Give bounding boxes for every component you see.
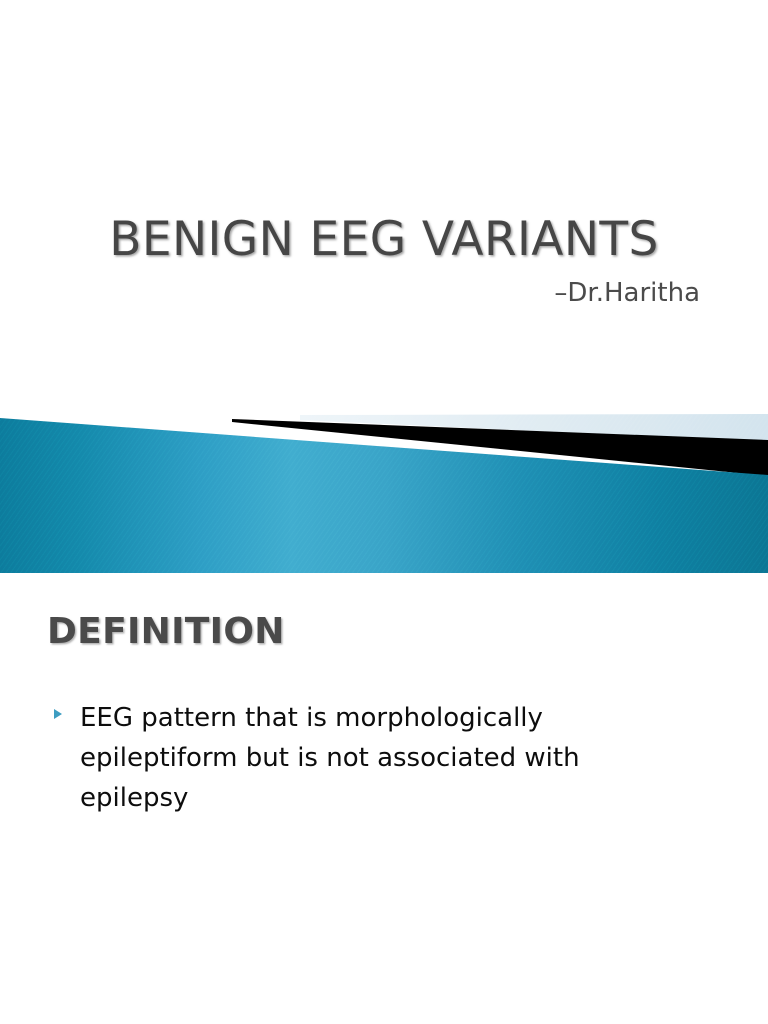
title-block: BENIGN EEG VARIANTS –Dr.Haritha xyxy=(0,215,768,307)
list-item: EEG pattern that is morphologically epil… xyxy=(52,698,652,818)
section-heading: DEFINITION xyxy=(47,611,285,652)
page-title: BENIGN EEG VARIANTS xyxy=(66,215,702,265)
slide-canvas: BENIGN EEG VARIANTS –Dr.Haritha xyxy=(0,0,768,1024)
angles-banner-graphic xyxy=(0,400,768,580)
definition-list: EEG pattern that is morphologically epil… xyxy=(52,698,652,818)
list-item-label: EEG pattern that is morphologically epil… xyxy=(80,703,580,813)
triangle-bullet-icon xyxy=(54,709,62,719)
banner-wedges xyxy=(0,400,768,580)
author-byline: –Dr.Haritha xyxy=(66,279,702,308)
